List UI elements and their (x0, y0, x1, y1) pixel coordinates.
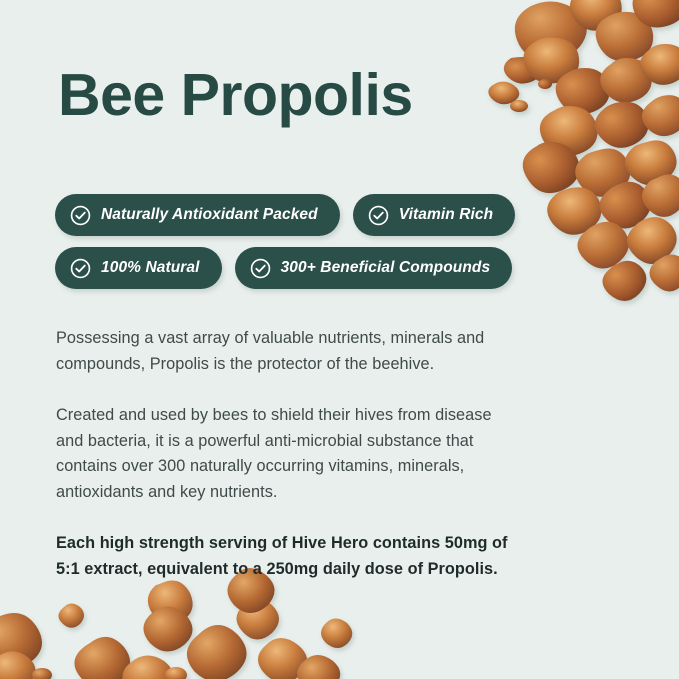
feature-badge-group: Naturally Antioxidant Packed Vitamin Ric… (55, 194, 585, 289)
check-circle-icon (368, 205, 389, 226)
product-info-panel: Bee Propolis Naturally Antioxidant Packe… (0, 0, 679, 679)
check-circle-icon (250, 258, 271, 279)
feature-badge-label: Naturally Antioxidant Packed (101, 206, 318, 224)
feature-badge-300-plus-beneficial-compounds[interactable]: 300+ Beneficial Compounds (235, 247, 513, 289)
feature-badge-label: Vitamin Rich (399, 206, 494, 224)
feature-badge-label: 100% Natural (101, 259, 200, 277)
check-circle-icon (70, 258, 91, 279)
body-paragraph-2: Created and used by bees to shield their… (56, 403, 508, 505)
feature-badge-label: 300+ Beneficial Compounds (281, 259, 491, 277)
body-paragraph-3: Each high strength serving of Hive Hero … (56, 531, 508, 582)
feature-badge-vitamin-rich[interactable]: Vitamin Rich (353, 194, 516, 236)
body-copy: Possessing a vast array of valuable nutr… (56, 326, 508, 582)
feature-badge-naturally-antioxidant-packed[interactable]: Naturally Antioxidant Packed (55, 194, 340, 236)
check-circle-icon (70, 205, 91, 226)
feature-badge-100-percent-natural[interactable]: 100% Natural (55, 247, 222, 289)
body-paragraph-1: Possessing a vast array of valuable nutr… (56, 326, 508, 377)
page-title: Bee Propolis (58, 64, 413, 128)
